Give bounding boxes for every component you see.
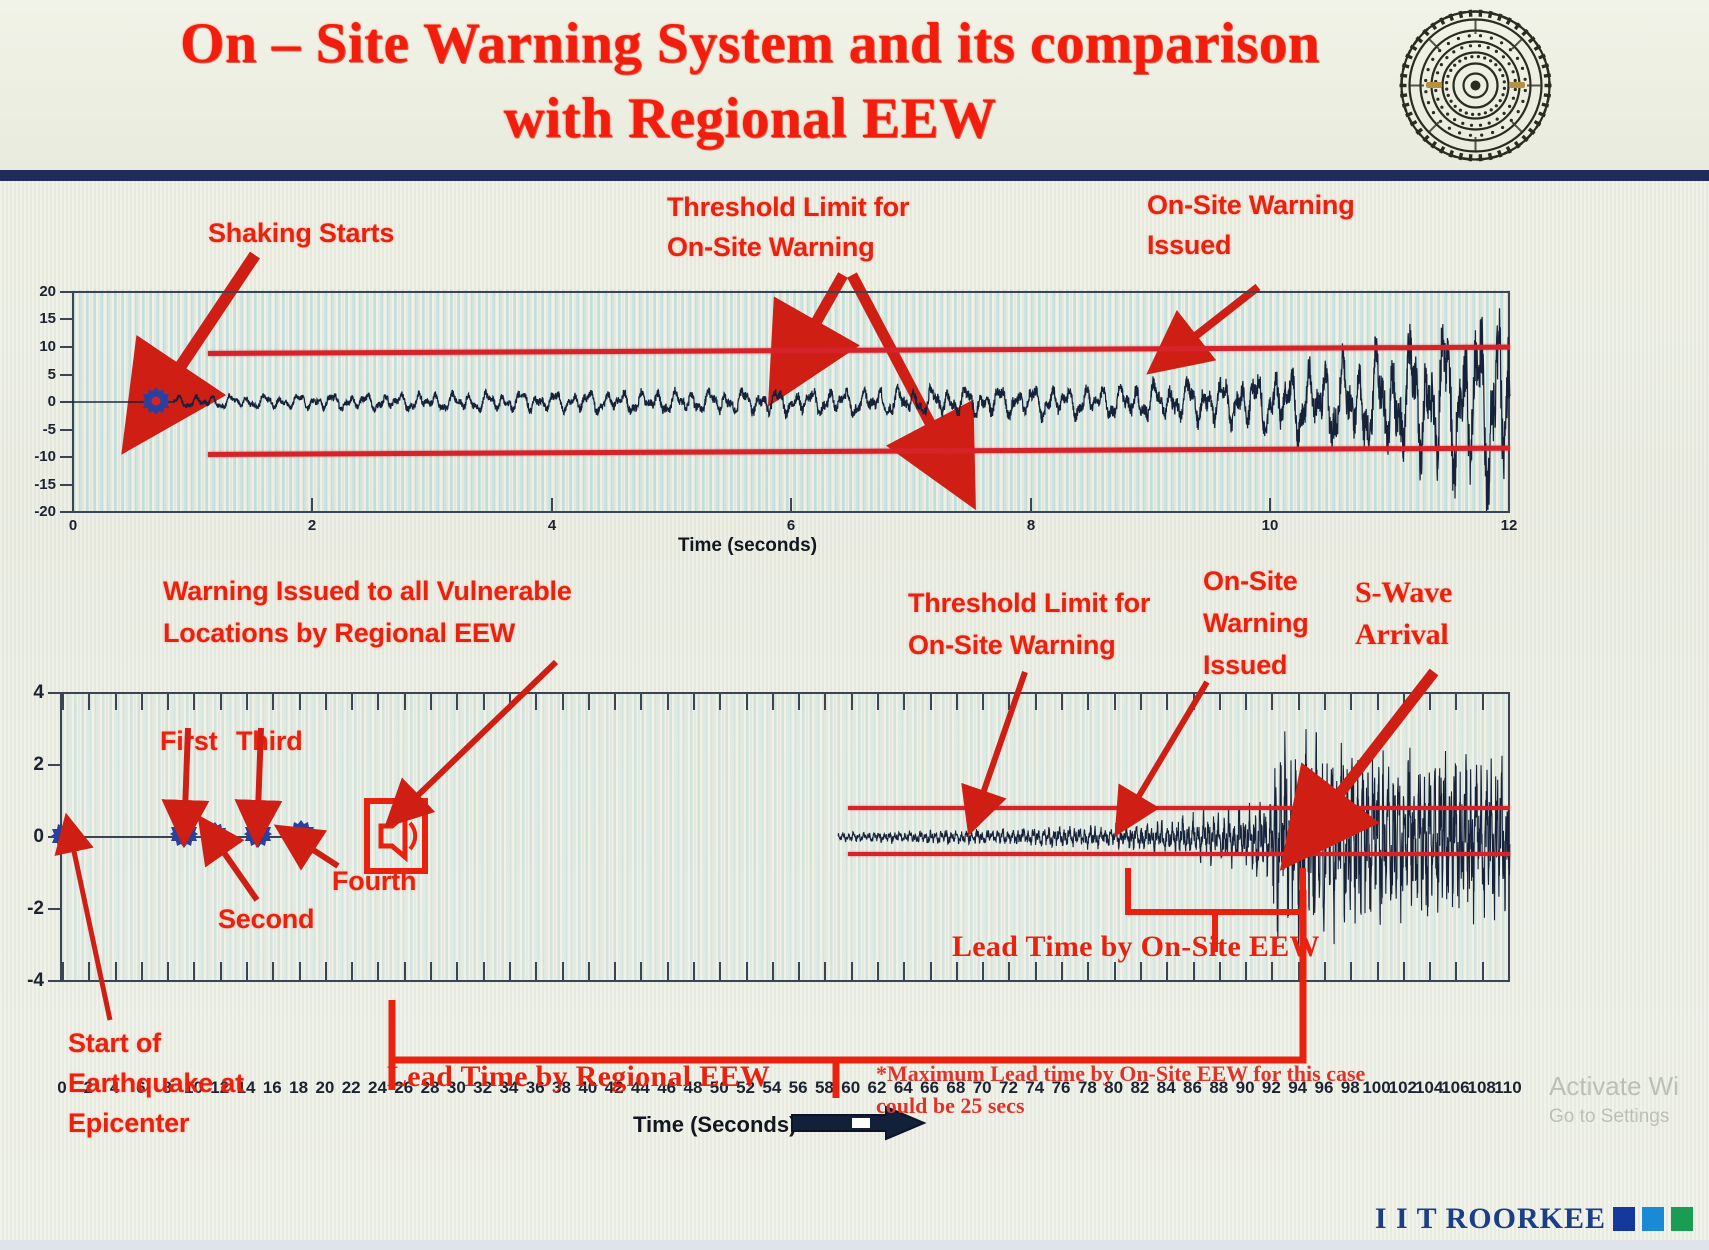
top-ytick-5: 5	[16, 366, 56, 383]
top-chart-waveform	[72, 291, 1510, 513]
footer-square-1	[1613, 1207, 1635, 1231]
top-ytick-15: 15	[16, 310, 56, 327]
top-ytick-m5: -5	[16, 421, 56, 438]
slide-header: On – Site Warning System and its compari…	[0, 0, 1709, 172]
bottom-chart-arrows	[0, 560, 1709, 1250]
page-title: On – Site Warning System and its compari…	[150, 6, 1350, 156]
footer-square-2	[1642, 1207, 1664, 1231]
top-xtick-8: 8	[1015, 517, 1047, 534]
slide-page: On – Site Warning System and its compari…	[0, 0, 1709, 1250]
top-xtick-0: 0	[57, 517, 89, 534]
top-ytick-0: 0	[16, 393, 56, 410]
footer-bar	[0, 1240, 1709, 1250]
iit-roorkee-emblem-icon	[1398, 8, 1553, 163]
watermark-line1: Activate Wi	[1549, 1069, 1679, 1104]
watermark-line2: Go to Settings	[1549, 1104, 1679, 1130]
footer-square-3	[1671, 1207, 1693, 1231]
top-xtick-6: 6	[775, 517, 807, 534]
top-ytick-m15: -15	[16, 476, 56, 493]
footer-brand-text: I I T ROORKEE	[1375, 1202, 1606, 1236]
top-xtick-2: 2	[296, 517, 328, 534]
top-xtick-12: 12	[1493, 517, 1525, 534]
iit-roorkee-footer-brand: I I T ROORKEE	[1375, 1202, 1693, 1236]
top-ytick-20: 20	[16, 283, 56, 300]
footnote-line1: *Maximum Lead time by On-Site EEW for th…	[876, 1060, 1496, 1089]
top-chart-xaxis-title: Time (seconds)	[678, 535, 817, 557]
windows-activation-watermark: Activate Wi Go to Settings	[1549, 1069, 1679, 1130]
top-ytick-m20: -20	[16, 503, 56, 520]
top-ytick-m10: -10	[16, 448, 56, 465]
top-xtick-10: 10	[1254, 517, 1286, 534]
top-ytick-10: 10	[16, 338, 56, 355]
footnote-line2: could be 25 secs	[876, 1092, 1496, 1121]
top-xtick-4: 4	[536, 517, 568, 534]
burst-marker-shaking-start	[142, 387, 170, 415]
